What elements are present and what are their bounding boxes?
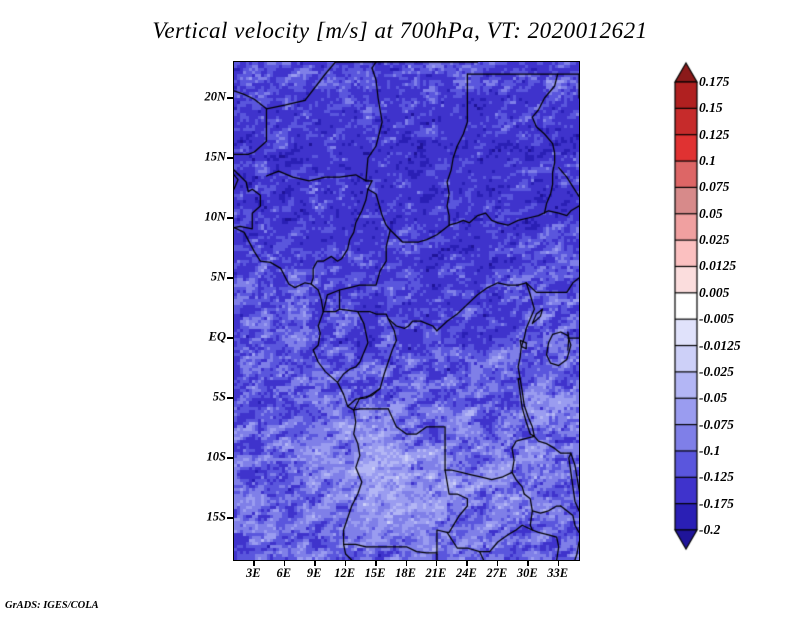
colorbar-tick-label: -0.075 — [699, 417, 734, 433]
y-tick-mark — [227, 457, 233, 459]
y-tick-label: EQ — [209, 330, 226, 345]
x-tick-mark — [436, 560, 438, 566]
x-tick-mark — [375, 560, 377, 566]
x-tick-mark — [345, 560, 347, 566]
x-tick-label: 21E — [426, 566, 447, 581]
footer-credit: GrADS: IGES/COLA — [5, 600, 99, 611]
y-tick-label: 10S — [207, 450, 226, 465]
colorbar-tick-label: 0.075 — [699, 179, 729, 195]
x-tick-label: 33E — [547, 566, 568, 581]
y-tick-mark — [227, 517, 233, 519]
x-tick-label: 18E — [395, 566, 416, 581]
colorbar-tick-label: 0.0125 — [699, 258, 736, 274]
colorbar-tick-label: -0.0125 — [699, 338, 741, 354]
colorbar-tick-label: 0.005 — [699, 285, 729, 301]
colorbar: 0.1750.150.1250.10.0750.050.0250.01250.0… — [660, 58, 800, 558]
country-borders-overlay — [234, 62, 579, 560]
colorbar-tick-label: -0.125 — [699, 469, 734, 485]
y-tick-mark — [227, 337, 233, 339]
x-tick-label: 24E — [456, 566, 477, 581]
x-tick-label: 15E — [365, 566, 386, 581]
x-tick-label: 30E — [517, 566, 538, 581]
x-tick-label: 3E — [246, 566, 261, 581]
y-tick-label: 15N — [204, 150, 226, 165]
colorbar-tick-label: 0.125 — [699, 127, 729, 143]
colorbar-tick-label: -0.175 — [699, 496, 734, 512]
x-tick-mark — [314, 560, 316, 566]
y-tick-mark — [227, 157, 233, 159]
x-tick-label: 27E — [486, 566, 507, 581]
x-tick-label: 12E — [334, 566, 355, 581]
colorbar-tick-label: 0.025 — [699, 232, 729, 248]
colorbar-tick-label: -0.2 — [699, 522, 720, 538]
x-tick-label: 9E — [307, 566, 322, 581]
x-tick-label: 6E — [276, 566, 291, 581]
colorbar-tick-label: 0.175 — [699, 74, 729, 90]
colorbar-tick-label: 0.1 — [699, 153, 716, 169]
colorbar-tick-label: -0.005 — [699, 311, 734, 327]
y-tick-label: 15S — [207, 510, 226, 525]
map-plot-frame — [233, 61, 580, 561]
y-tick-label: 5N — [211, 270, 226, 285]
y-axis-labels: 20N15N10N5NEQ5S10S15S — [178, 61, 226, 559]
map-plot-area — [234, 62, 579, 560]
y-tick-mark — [227, 397, 233, 399]
x-tick-mark — [406, 560, 408, 566]
y-tick-mark — [227, 217, 233, 219]
colorbar-tick-label: -0.1 — [699, 443, 720, 459]
x-tick-mark — [558, 560, 560, 566]
y-tick-label: 10N — [204, 210, 226, 225]
x-tick-mark — [284, 560, 286, 566]
y-tick-label: 20N — [204, 90, 226, 105]
y-tick-label: 5S — [213, 390, 226, 405]
x-tick-mark — [466, 560, 468, 566]
colorbar-tick-label: -0.05 — [699, 390, 727, 406]
colorbar-tick-label: 0.05 — [699, 206, 723, 222]
y-tick-mark — [227, 277, 233, 279]
y-tick-mark — [227, 97, 233, 99]
x-tick-mark — [527, 560, 529, 566]
x-tick-mark — [497, 560, 499, 566]
page-title: Vertical velocity [m/s] at 700hPa, VT: 2… — [0, 18, 800, 44]
colorbar-tick-label: 0.15 — [699, 100, 723, 116]
x-tick-mark — [253, 560, 255, 566]
colorbar-tick-label: -0.025 — [699, 364, 734, 380]
